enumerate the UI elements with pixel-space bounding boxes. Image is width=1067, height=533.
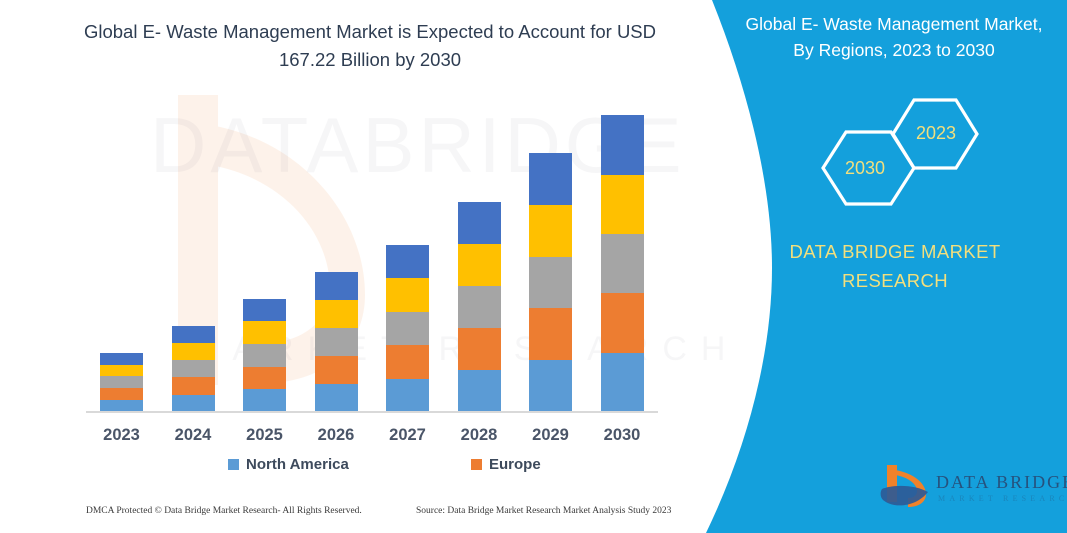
x-label-2027: 2027	[386, 426, 429, 445]
data-bridge-logo-icon	[878, 462, 932, 512]
legend-label: Europe	[489, 456, 541, 473]
bar-segment-europe	[458, 328, 501, 370]
bar-segment-north-america	[315, 384, 358, 412]
x-axis-line	[86, 411, 658, 413]
footer-source-text: Source: Data Bridge Market Research Mark…	[416, 506, 671, 516]
hexagon-badges: 2030 2023	[815, 90, 1025, 220]
legend-swatch-icon	[471, 459, 482, 470]
bar-segment-series-5	[100, 353, 143, 365]
bar-2027	[386, 245, 429, 412]
bar-segment-series-4	[100, 365, 143, 377]
legend-item-north-america[interactable]: North America	[228, 456, 349, 473]
chart-legend: North AmericaEurope	[88, 456, 658, 480]
data-bridge-logo: DATA BRIDGE MARKET RESEARCH	[878, 462, 1058, 516]
hexagon-label-2030: 2030	[845, 158, 885, 179]
bar-segment-series-5	[529, 153, 572, 205]
bar-segment-series-5	[315, 272, 358, 300]
footer-dmca-text: DMCA Protected © Data Bridge Market Rese…	[86, 506, 416, 516]
bar-segment-europe	[601, 293, 644, 352]
bar-segment-north-america	[458, 370, 501, 412]
bar-segment-series-3	[386, 312, 429, 345]
footer: DMCA Protected © Data Bridge Market Rese…	[86, 506, 686, 516]
bar-segment-series-4	[172, 343, 215, 360]
bar-2030	[601, 115, 644, 412]
bar-segment-series-3	[172, 360, 215, 377]
bar-segment-europe	[315, 356, 358, 384]
logo-tagline: MARKET RESEARCH	[938, 494, 1067, 503]
bar-2025	[243, 299, 286, 412]
bar-segment-europe	[243, 367, 286, 390]
x-label-2024: 2024	[172, 426, 215, 445]
bar-segment-series-4	[458, 244, 501, 286]
x-label-2028: 2028	[458, 426, 501, 445]
bar-segment-europe	[386, 345, 429, 378]
bar-segment-series-5	[172, 326, 215, 343]
legend-item-europe[interactable]: Europe	[471, 456, 541, 473]
bar-segment-europe	[529, 308, 572, 360]
bar-segment-series-5	[386, 245, 429, 278]
x-label-2025: 2025	[243, 426, 286, 445]
x-label-2030: 2030	[601, 426, 644, 445]
infographic-root: DATABRIDGE MARKET RESEARCH Global E- Was…	[0, 0, 1067, 533]
x-axis-tick-labels: 20232024202520262027202820292030	[88, 426, 658, 454]
bar-segment-europe	[100, 388, 143, 400]
bar-segment-north-america	[386, 379, 429, 412]
bar-segment-series-5	[458, 202, 501, 244]
bar-2024	[172, 326, 215, 412]
bar-2023	[100, 353, 143, 412]
logo-name: DATA BRIDGE	[936, 472, 1067, 493]
x-label-2026: 2026	[315, 426, 358, 445]
bar-segment-series-4	[529, 205, 572, 257]
bar-2029	[529, 153, 572, 412]
right-panel-title: Global E- Waste Management Market, By Re…	[734, 12, 1054, 64]
bar-segment-series-3	[601, 234, 644, 293]
bar-segment-north-america	[529, 360, 572, 412]
right-blue-panel: Global E- Waste Management Market, By Re…	[720, 0, 1067, 533]
bar-segment-north-america	[601, 353, 644, 412]
bar-segment-north-america	[243, 389, 286, 412]
x-label-2029: 2029	[529, 426, 572, 445]
chart-plot-area	[88, 110, 658, 412]
hexagon-label-2023: 2023	[916, 123, 956, 144]
page-title: Global E- Waste Management Market is Exp…	[60, 18, 680, 74]
stacked-bar-chart: 20232024202520262027202820292030 North A…	[0, 0, 720, 533]
bar-segment-series-3	[529, 257, 572, 309]
x-label-2023: 2023	[100, 426, 143, 445]
bar-segment-series-4	[601, 175, 644, 234]
bar-segment-north-america	[172, 395, 215, 412]
bar-segment-series-3	[458, 286, 501, 328]
bar-segment-series-4	[315, 300, 358, 328]
bar-2026	[315, 272, 358, 412]
bar-segment-series-3	[315, 328, 358, 356]
legend-swatch-icon	[228, 459, 239, 470]
brand-name: DATA BRIDGE MARKET RESEARCH	[750, 238, 1040, 295]
bar-segment-series-3	[243, 344, 286, 367]
legend-label: North America	[246, 456, 349, 473]
bar-segment-series-4	[243, 321, 286, 344]
bar-2028	[458, 202, 501, 412]
bar-segment-series-4	[386, 278, 429, 311]
bar-segment-series-3	[100, 376, 143, 388]
bar-segment-series-5	[601, 115, 644, 174]
bar-segment-series-5	[243, 299, 286, 322]
bar-segment-europe	[172, 377, 215, 394]
